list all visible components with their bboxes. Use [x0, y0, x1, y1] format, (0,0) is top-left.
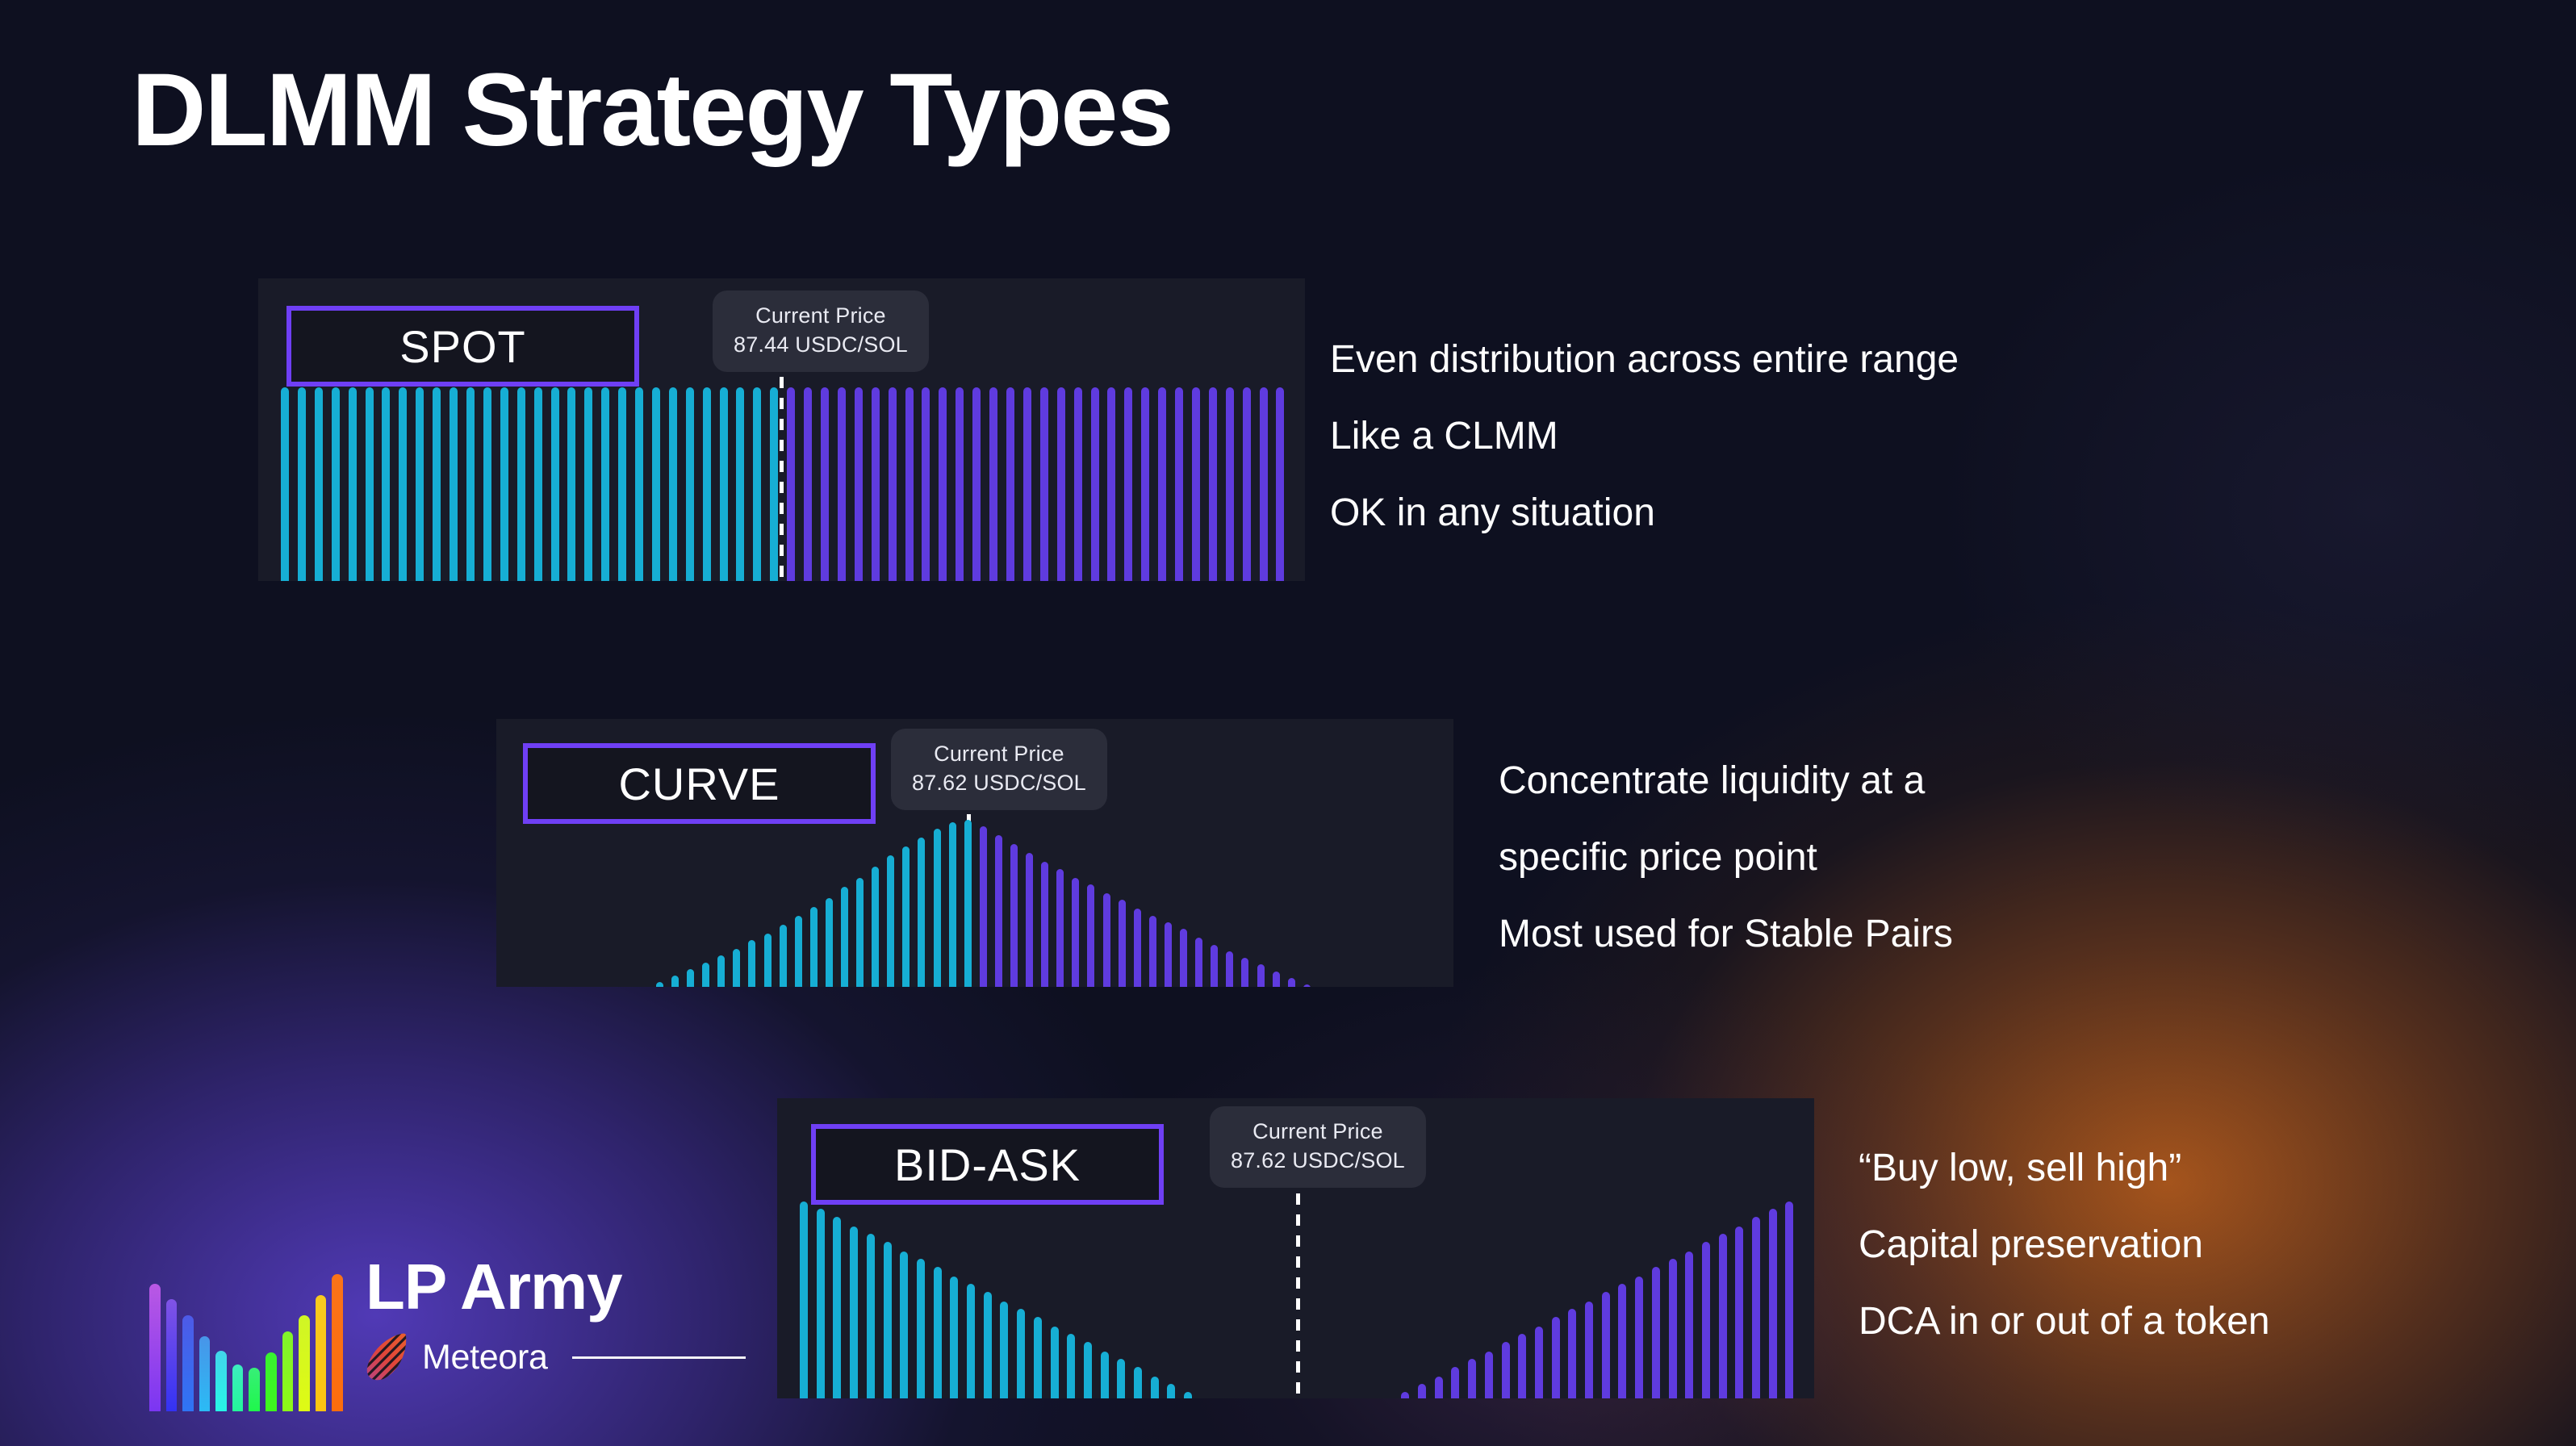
liquidity-bar: [1117, 1359, 1125, 1398]
liquidity-bar: [1273, 972, 1280, 987]
liquidity-bar: [1056, 869, 1064, 987]
liquidity-bar: [967, 1284, 975, 1398]
liquidity-bar: [1652, 1267, 1660, 1398]
liquidity-bar: [534, 387, 542, 581]
liquidity-bar: [867, 1234, 875, 1398]
liquidity-bar: [399, 387, 407, 581]
liquidity-bar: [720, 387, 728, 581]
logo-bar: [332, 1274, 343, 1411]
liquidity-bars-icon: [149, 1274, 343, 1411]
liquidity-bar: [416, 387, 424, 581]
liquidity-plot-curve: [517, 820, 1434, 987]
liquidity-bar: [1260, 387, 1268, 581]
liquidity-bar: [887, 855, 894, 987]
liquidity-bar: [567, 387, 575, 581]
liquidity-bar: [949, 822, 956, 987]
logo-bar: [182, 1315, 194, 1411]
liquidity-bar: [1209, 387, 1217, 581]
liquidity-bar: [934, 1267, 942, 1398]
liquidity-bar: [889, 387, 897, 581]
liquidity-bar: [601, 387, 609, 581]
liquidity-bar: [1602, 1292, 1610, 1398]
liquidity-bar: [1000, 1302, 1008, 1398]
liquidity-bar: [1635, 1277, 1643, 1398]
liquidity-bar: [1167, 1384, 1175, 1398]
liquidity-bar: [656, 982, 663, 987]
current-price-tooltip-curve: Current Price 87.62 USDC/SOL: [891, 729, 1107, 810]
liquidity-bar: [1485, 1352, 1493, 1398]
liquidity-bar: [995, 835, 1002, 987]
liquidity-bar: [1084, 1342, 1092, 1398]
liquidity-bar: [872, 867, 879, 987]
liquidity-bar: [917, 1259, 925, 1398]
bar-series-spot: [281, 387, 1285, 581]
logo-bar: [266, 1352, 277, 1411]
liquidity-bar: [817, 1209, 825, 1398]
logo-bar: [282, 1331, 294, 1411]
liquidity-bar: [1241, 958, 1248, 987]
liquidity-bar: [1568, 1309, 1576, 1398]
liquidity-bar: [618, 387, 626, 581]
liquidity-bar: [1149, 916, 1156, 987]
liquidity-bar: [736, 387, 744, 581]
liquidity-bar: [939, 387, 947, 581]
logo-text-group: LP Army: [366, 1255, 745, 1382]
liquidity-bar: [856, 878, 864, 987]
liquidity-bar: [717, 955, 725, 987]
liquidity-bar: [821, 387, 829, 581]
liquidity-bar: [753, 387, 761, 581]
liquidity-bar: [1057, 387, 1065, 581]
liquidity-bar: [315, 387, 323, 581]
liquidity-bar: [1091, 387, 1099, 581]
liquidity-bar: [703, 387, 711, 581]
liquidity-bar: [1226, 387, 1234, 581]
liquidity-bar: [1023, 387, 1031, 581]
strategy-description-bidask: “Buy low, sell high”Capital preservation…: [1859, 1130, 2270, 1360]
liquidity-bar: [298, 387, 306, 581]
liquidity-bar: [1702, 1242, 1710, 1398]
liquidity-bar: [980, 826, 987, 987]
liquidity-bar: [1074, 387, 1082, 581]
liquidity-bar: [1468, 1359, 1476, 1398]
liquidity-bar: [1087, 884, 1094, 987]
current-price-label: Current Price: [1231, 1118, 1405, 1147]
liquidity-bar: [1119, 900, 1126, 987]
logo-bar: [199, 1336, 211, 1412]
liquidity-bar: [1243, 387, 1251, 581]
liquidity-bar: [500, 387, 508, 581]
liquidity-bar: [1017, 1309, 1025, 1398]
liquidity-bar: [1134, 909, 1141, 987]
liquidity-bar: [1276, 387, 1284, 581]
liquidity-bar: [800, 1202, 808, 1398]
description-line: Capital preservation: [1859, 1206, 2270, 1283]
liquidity-bar: [433, 387, 441, 581]
description-line: DCA in or out of a token: [1859, 1283, 2270, 1360]
liquidity-bar: [884, 1242, 892, 1398]
liquidity-bar: [1175, 387, 1183, 581]
liquidity-bar: [804, 387, 812, 581]
liquidity-bar: [1195, 938, 1202, 987]
liquidity-bar: [1072, 878, 1079, 987]
strategy-badge-curve[interactable]: CURVE: [523, 743, 876, 824]
liquidity-bar: [780, 925, 787, 987]
description-line: Most used for Stable Pairs: [1499, 896, 1953, 972]
liquidity-bar: [1752, 1217, 1760, 1398]
liquidity-bar: [1026, 853, 1033, 987]
liquidity-bar: [1124, 387, 1132, 581]
liquidity-bar: [635, 387, 643, 581]
liquidity-bar: [1735, 1227, 1743, 1398]
liquidity-bar: [989, 387, 997, 581]
liquidity-bar: [382, 387, 390, 581]
liquidity-bar: [922, 387, 930, 581]
strategy-card-curve: CURVE Current Price 87.62 USDC/SOL 84.69…: [496, 719, 1453, 987]
liquidity-bar: [1535, 1327, 1543, 1398]
liquidity-bar: [686, 387, 694, 581]
liquidity-bar: [787, 387, 795, 581]
liquidity-bar: [1103, 893, 1110, 987]
strategy-badge-bidask[interactable]: BID-ASK: [811, 1124, 1164, 1205]
liquidity-bar: [1257, 964, 1265, 987]
liquidity-bar: [1134, 1367, 1142, 1398]
liquidity-bar: [1435, 1377, 1443, 1398]
liquidity-bar: [1669, 1259, 1677, 1398]
liquidity-bar: [872, 387, 880, 581]
slide-canvas: DLMM Strategy Types SPOT Current Price 8…: [0, 0, 2576, 1446]
liquidity-bar: [1141, 387, 1149, 581]
current-price-label: Current Price: [912, 740, 1086, 769]
liquidity-bar: [517, 387, 525, 581]
logo-divider-rule: [572, 1356, 746, 1359]
logo-bar: [316, 1295, 327, 1412]
strategy-badge-label: SPOT: [399, 320, 525, 373]
current-price-tooltip-spot: Current Price 87.44 USDC/SOL: [713, 290, 929, 372]
liquidity-plot-spot: [281, 387, 1285, 581]
liquidity-bar: [1158, 387, 1166, 581]
liquidity-bar: [1010, 844, 1018, 987]
strategy-badge-spot[interactable]: SPOT: [286, 306, 639, 387]
liquidity-bar: [1451, 1367, 1459, 1398]
liquidity-plot-bidask: [800, 1202, 1794, 1398]
liquidity-bar: [702, 963, 709, 987]
liquidity-bar: [671, 976, 679, 987]
liquidity-bar: [349, 387, 357, 581]
liquidity-bar: [900, 1252, 908, 1398]
strategy-description-curve: Concentrate liquidity at aspecific price…: [1499, 742, 1953, 972]
current-price-value: 87.62 USDC/SOL: [1231, 1147, 1405, 1176]
background-glow-right: [1930, 145, 2576, 871]
liquidity-bar: [838, 387, 846, 581]
strategy-card-spot: SPOT Current Price 87.44 USDC/SOL 84.528…: [258, 278, 1305, 581]
liquidity-bar: [1180, 929, 1187, 987]
liquidity-bar: [1418, 1384, 1426, 1398]
liquidity-bar: [551, 387, 559, 581]
liquidity-bar: [466, 387, 475, 581]
bar-series-curve: [517, 820, 1434, 987]
liquidity-bar: [1288, 978, 1295, 987]
liquidity-bar: [748, 940, 755, 987]
description-line: specific price point: [1499, 819, 1953, 896]
liquidity-bar: [795, 916, 802, 987]
liquidity-bar: [652, 387, 660, 581]
logo-title: LP Army: [366, 1255, 745, 1319]
current-price-value: 87.62 USDC/SOL: [912, 769, 1086, 798]
liquidity-bar: [764, 934, 772, 987]
liquidity-bar: [733, 949, 740, 987]
description-line: Concentrate liquidity at a: [1499, 742, 1953, 819]
liquidity-bar: [964, 820, 972, 987]
liquidity-bar: [826, 898, 833, 987]
meteora-label: Meteora: [422, 1338, 548, 1377]
meteora-comet-icon: [366, 1332, 409, 1382]
liquidity-bar: [833, 1217, 841, 1398]
liquidity-bar: [855, 387, 863, 581]
liquidity-bar: [1041, 862, 1048, 987]
description-line: “Buy low, sell high”: [1859, 1130, 2270, 1206]
liquidity-bar: [584, 387, 592, 581]
liquidity-bar: [669, 387, 677, 581]
strategy-card-bidask: BID-ASK Current Price 87.62 USDC/SOL 84.…: [777, 1098, 1814, 1398]
liquidity-bar: [841, 887, 848, 987]
bar-series-bidask: [800, 1202, 1794, 1398]
description-line: Like a CLMM: [1330, 398, 1959, 474]
liquidity-bar: [1769, 1209, 1777, 1398]
liquidity-bar: [1107, 387, 1115, 581]
liquidity-bar: [1040, 387, 1048, 581]
liquidity-bar: [1719, 1234, 1727, 1398]
page-title: DLMM Strategy Types: [132, 56, 1173, 165]
liquidity-bar: [850, 1227, 858, 1398]
logo-bar: [249, 1368, 260, 1411]
liquidity-bar: [366, 387, 374, 581]
liquidity-bar: [1585, 1302, 1593, 1398]
liquidity-bar: [1226, 951, 1233, 987]
description-line: OK in any situation: [1330, 474, 1959, 551]
liquidity-bar: [1101, 1352, 1109, 1398]
liquidity-bar: [281, 387, 289, 581]
liquidity-bar: [984, 1292, 992, 1398]
logo-bar: [166, 1299, 178, 1411]
liquidity-bar: [1151, 1377, 1159, 1398]
liquidity-bar: [1192, 387, 1200, 581]
current-price-value: 87.44 USDC/SOL: [734, 331, 908, 360]
liquidity-bar: [972, 387, 981, 581]
liquidity-bar: [1303, 984, 1311, 987]
liquidity-bar: [950, 1277, 958, 1398]
liquidity-bar: [1211, 945, 1218, 987]
liquidity-bar: [902, 846, 910, 987]
logo-bar: [215, 1351, 227, 1411]
liquidity-bar: [905, 387, 914, 581]
strategy-badge-label: CURVE: [618, 758, 780, 810]
logo-bar: [149, 1284, 161, 1411]
current-price-label: Current Price: [734, 302, 908, 331]
liquidity-bar: [1067, 1334, 1075, 1398]
liquidity-bar: [1034, 1317, 1042, 1398]
logo-bar: [232, 1365, 244, 1411]
strategy-badge-label: BID-ASK: [894, 1139, 1081, 1191]
liquidity-bar: [770, 387, 778, 581]
logo-partner-row: Meteora: [366, 1332, 745, 1382]
liquidity-bar: [918, 838, 925, 987]
liquidity-bar: [450, 387, 458, 581]
liquidity-bar: [1518, 1334, 1526, 1398]
current-price-tooltip-bidask: Current Price 87.62 USDC/SOL: [1210, 1106, 1426, 1188]
logo-bar: [299, 1315, 310, 1411]
liquidity-bar: [1618, 1284, 1626, 1398]
liquidity-bar: [687, 969, 694, 987]
liquidity-bar: [1502, 1342, 1510, 1398]
liquidity-bar: [1051, 1327, 1059, 1398]
liquidity-bar: [1184, 1392, 1192, 1398]
description-line: Even distribution across entire range: [1330, 321, 1959, 398]
liquidity-bar: [934, 829, 941, 987]
liquidity-bar: [956, 387, 964, 581]
strategy-description-spot: Even distribution across entire rangeLik…: [1330, 321, 1959, 551]
liquidity-bar: [1006, 387, 1014, 581]
liquidity-bar: [1165, 922, 1172, 987]
liquidity-bar: [1401, 1392, 1409, 1398]
liquidity-bar: [1785, 1202, 1793, 1398]
liquidity-bar: [483, 387, 491, 581]
liquidity-bar: [332, 387, 340, 581]
liquidity-bar: [1685, 1252, 1693, 1398]
liquidity-bar: [810, 907, 818, 987]
liquidity-bar: [1552, 1317, 1560, 1398]
